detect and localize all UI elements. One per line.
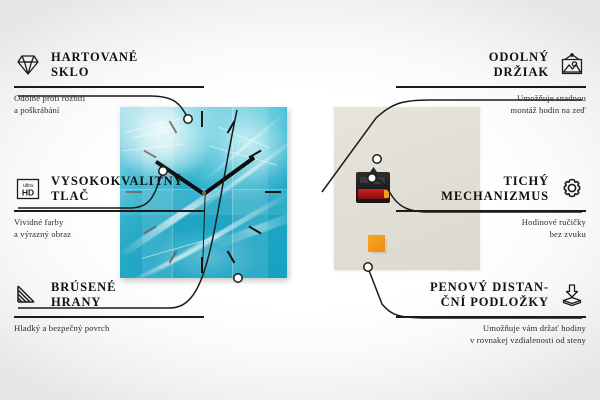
clock-marker-3 [265, 191, 281, 193]
picture-hanger-icon [558, 51, 586, 79]
feature-header: TICHÝMECHANIZMUS [396, 170, 586, 208]
feature-header: ultra HD VYSOKOKVALITNÝTLAČ [14, 170, 204, 208]
clock-mechanism [356, 167, 390, 203]
feature-divider [396, 210, 586, 212]
svg-text:HD: HD [22, 188, 34, 198]
feature-divider [396, 86, 586, 88]
feature-header: ODOLNÝDRŽIAK [396, 46, 586, 84]
mechanism-detail-left [360, 177, 369, 183]
feature-title: VYSOKOKVALITNÝTLAČ [51, 174, 204, 205]
feature-description: Umožňuje snadnoumontáž hodin na zeď [396, 92, 586, 116]
infographic-canvas: HARTOVANÉSKLO Odolné proti rozbitía pošk… [0, 0, 600, 400]
panel-seam-vertical [232, 107, 233, 278]
feature-description: Hladký a bezpečný povrch [14, 322, 204, 334]
feature-description: Umožňuje vám držať hodinyv rovnakej vzdi… [396, 322, 586, 346]
foam-spacer-icon [558, 281, 586, 309]
feature-title: HARTOVANÉSKLO [51, 50, 204, 81]
feature-beveled-edges: BRÚSENÉHRANY Hladký a bezpečný povrch [14, 276, 204, 334]
feature-durable-holder: ODOLNÝDRŽIAK Umožňuje snadnoumontáž hodi… [396, 46, 586, 116]
feature-high-quality-print: ultra HD VYSOKOKVALITNÝTLAČ Vividné farb… [14, 170, 204, 240]
battery-terminal [384, 190, 389, 198]
mechanism-detail-right [373, 177, 385, 184]
feature-header: BRÚSENÉHRANY [14, 276, 204, 314]
feature-tempered-glass: HARTOVANÉSKLO Odolné proti rozbitía pošk… [14, 46, 204, 116]
feature-divider [14, 316, 204, 318]
feature-title: TICHÝMECHANIZMUS [396, 174, 549, 205]
feature-description: Vividné farbya výrazný obraz [14, 216, 204, 240]
feature-divider [14, 86, 204, 88]
feature-silent-mechanism: TICHÝMECHANIZMUS Hodinové ručičkybez zvu… [396, 170, 586, 240]
gear-icon [558, 175, 586, 203]
diamond-icon [14, 51, 42, 79]
feature-title: PENOVÝ DISTAN-ČNÍ PODLOŽKY [396, 280, 549, 311]
feature-header: PENOVÝ DISTAN-ČNÍ PODLOŽKY [396, 276, 586, 314]
battery [358, 189, 387, 199]
feature-title: BRÚSENÉHRANY [51, 280, 204, 311]
beveled-edge-icon [14, 281, 42, 309]
foam-spacer-pad [368, 235, 385, 252]
feature-title: ODOLNÝDRŽIAK [396, 50, 549, 81]
feature-header: HARTOVANÉSKLO [14, 46, 204, 84]
feature-description: Hodinové ručičkybez zvuku [396, 216, 586, 240]
feature-divider [14, 210, 204, 212]
feature-description: Odolné proti rozbitía poškrábání [14, 92, 204, 116]
feature-divider [396, 316, 586, 318]
ultra-hd-icon: ultra HD [14, 175, 42, 203]
feature-foam-spacers: PENOVÝ DISTAN-ČNÍ PODLOŽKY Umožňuje vám … [396, 276, 586, 346]
